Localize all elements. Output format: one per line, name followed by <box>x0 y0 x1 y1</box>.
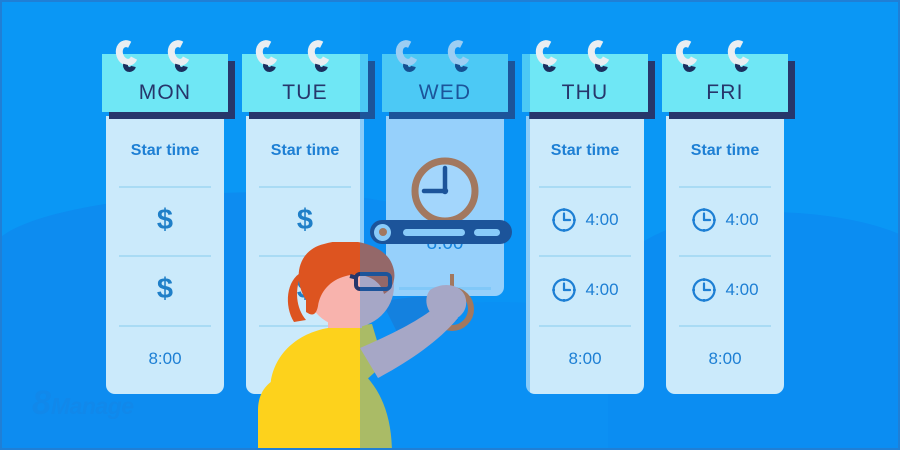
slider-track-short[interactable] <box>474 229 500 236</box>
clock-icon <box>551 277 577 303</box>
day-label: THU <box>562 81 609 105</box>
spiral-ring <box>588 40 612 74</box>
dollar-icon: $ <box>157 204 173 237</box>
clock-icon <box>551 207 577 233</box>
hours-entry: 4:00 <box>691 277 758 303</box>
card-body: Star time$$8:00 <box>106 116 224 394</box>
hours-entry: 4:00 <box>551 207 618 233</box>
spiral-ring <box>168 40 192 74</box>
row-amount[interactable]: $ <box>106 255 224 325</box>
spiral-ring <box>396 40 420 74</box>
row-start-time: Star time <box>246 116 364 186</box>
start-time-label: Star time <box>551 142 619 160</box>
start-time-label: Star time <box>271 142 339 160</box>
clock-icon <box>408 154 482 228</box>
card-body: Star time4:004:008:00 <box>666 116 784 394</box>
illustration-canvas: MONStar time$$8:00TUEStar time$$8:00WED8… <box>0 0 900 450</box>
day-label: FRI <box>706 81 743 105</box>
row-start-time: Star time <box>526 116 644 186</box>
spiral-ring <box>308 40 332 74</box>
brand-logo: 8 Manage <box>32 386 134 420</box>
clock-icon <box>691 207 717 233</box>
hours-entry: 4:00 <box>551 277 618 303</box>
spiral-binding <box>662 40 788 70</box>
row-total: 8:00 <box>106 325 224 395</box>
row-hours[interactable]: 4:00 <box>666 186 784 256</box>
slider-track-long[interactable] <box>403 229 465 236</box>
spiral-ring <box>728 40 752 74</box>
spiral-binding <box>102 40 228 70</box>
logo-digit: 8 <box>32 386 51 420</box>
row-hours[interactable]: 4:00 <box>666 255 784 325</box>
row-total: 8:00 <box>666 325 784 395</box>
spiral-ring <box>448 40 472 74</box>
hours-value: 4:00 <box>585 280 618 300</box>
spiral-binding <box>382 40 508 70</box>
row-amount[interactable]: $ <box>106 186 224 256</box>
dollar-icon: $ <box>297 204 313 237</box>
hours-value: 4:00 <box>725 280 758 300</box>
day-label: MON <box>139 81 192 105</box>
total-hours-value: 8:00 <box>708 349 741 369</box>
day-label: WED <box>419 81 472 105</box>
spiral-ring <box>676 40 700 74</box>
spiral-binding <box>522 40 648 70</box>
hours-value: 4:00 <box>725 210 758 230</box>
spiral-ring <box>536 40 560 74</box>
dollar-icon: $ <box>157 273 173 306</box>
start-time-label: Star time <box>691 142 759 160</box>
spiral-ring <box>256 40 280 74</box>
person-illustration <box>232 242 522 450</box>
row-start-time: Star time <box>666 116 784 186</box>
total-hours-value: 8:00 <box>148 349 181 369</box>
total-hours-value: 8:00 <box>568 349 601 369</box>
start-time-label: Star time <box>131 142 199 160</box>
row-hours[interactable]: 4:00 <box>526 186 644 256</box>
spiral-ring <box>116 40 140 74</box>
card-body: Star time4:004:008:00 <box>526 116 644 394</box>
toggle-knob-icon[interactable] <box>374 224 391 241</box>
hours-value: 4:00 <box>585 210 618 230</box>
clock-icon <box>691 277 717 303</box>
hours-entry: 4:00 <box>691 207 758 233</box>
row-total: 8:00 <box>526 325 644 395</box>
row-start-time: Star time <box>106 116 224 186</box>
logo-word: Manage <box>51 395 134 418</box>
card-toolbar[interactable] <box>370 220 512 244</box>
day-label: TUE <box>282 81 328 105</box>
spiral-binding <box>242 40 368 70</box>
row-hours[interactable]: 4:00 <box>526 255 644 325</box>
